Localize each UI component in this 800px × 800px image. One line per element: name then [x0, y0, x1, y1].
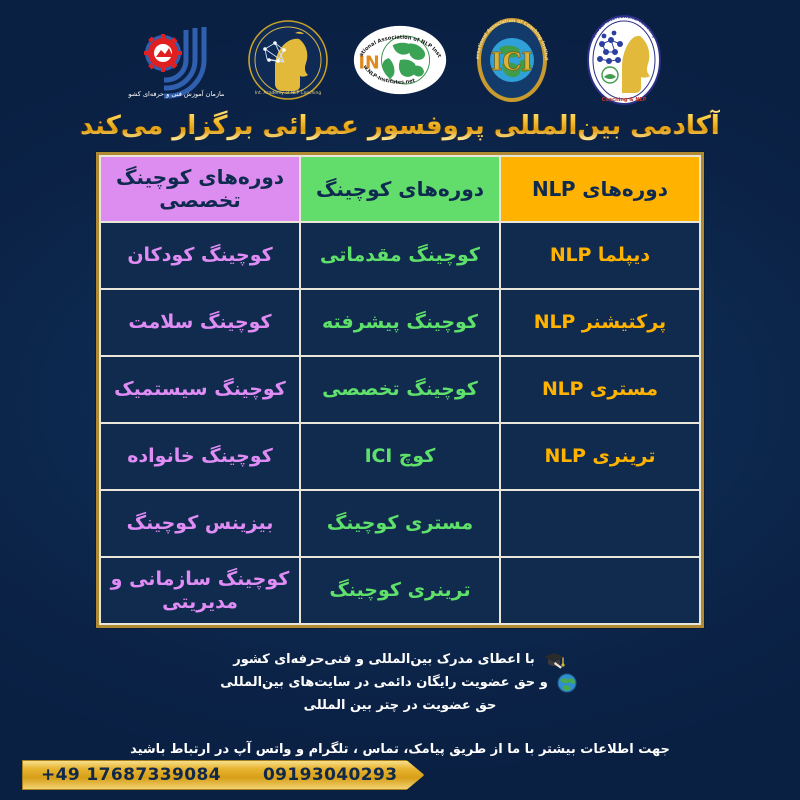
courses-table-frame: دوره‌های NLP دوره‌های کوچینگ دوره‌های کو… [96, 152, 704, 628]
graduation-cap-icon [541, 649, 567, 671]
cell-specialized: کوچینگ سلامت [100, 289, 300, 356]
ici-logo: ICI International Association of Coachin… [464, 15, 560, 105]
cell-coaching: مستری کوچینگ [300, 490, 500, 557]
nlp-academy-logo-caption: Int. Academy of NLP Coaching [255, 90, 321, 96]
column-header-nlp: دوره‌های NLP [500, 156, 700, 222]
footer-note-row-3: حق عضویت در چتر بین المللی [40, 694, 760, 717]
ici-logo-abbr: ICI [491, 47, 533, 76]
column-header-specialized: دوره‌های کوچینگ تخصصی [100, 156, 300, 222]
ianlp-logo: IN International Association of NLP Inst… [352, 15, 448, 105]
cell-coaching: کوچینگ تخصصی [300, 356, 500, 423]
cell-nlp: مستری NLP [500, 356, 700, 423]
cell-specialized: کوچینگ خانواده [100, 423, 300, 490]
footer-notes: با اعطای مدرک بین‌المللی و فنی‌حرفه‌ای ک… [0, 648, 800, 717]
contact-instruction-line: جهت اطلاعات بیشتر با ما از طریق پیامک، ت… [0, 738, 800, 757]
table-row: پرکتیشنر NLP کوچینگ پیشرفته کوچینگ سلامت [100, 289, 700, 356]
globe-icon [554, 672, 580, 694]
poster-root: سازمان آموزش فنی و حرفه‌ای کشور Int [0, 0, 800, 800]
poster-title: آکادمی بین‌المللی پروفسور عمرائی برگزار … [80, 106, 720, 146]
phone-number-local[interactable]: 09193040293 [263, 765, 398, 785]
footer-note-3: حق عضویت در چتر بین المللی [304, 694, 497, 717]
poster-title-wrap: آکادمی بین‌المللی پروفسور عمرائی برگزار … [0, 106, 800, 148]
cell-coaching: کوچ ICI [300, 423, 500, 490]
logo-strip: سازمان آموزش فنی و حرفه‌ای کشور Int [0, 14, 800, 106]
cell-specialized: بیزینس کوچینگ [100, 490, 300, 557]
tvto-logo: سازمان آموزش فنی و حرفه‌ای کشور [128, 15, 224, 105]
courses-table: دوره‌های NLP دوره‌های کوچینگ دوره‌های کو… [99, 155, 701, 625]
omraei-academy-logo-tagline: Coaching & NLP [602, 97, 647, 103]
table-row: دیپلما NLP کوچینگ مقدماتی کوچینگ کودکان [100, 222, 700, 289]
column-header-coaching: دوره‌های کوچینگ [300, 156, 500, 222]
footer-note-1: با اعطای مدرک بین‌المللی و فنی‌حرفه‌ای ک… [233, 648, 534, 671]
cell-coaching: کوچینگ مقدماتی [300, 222, 500, 289]
table-row: مستری NLP کوچینگ تخصصی کوچینگ سیستمیک [100, 356, 700, 423]
cell-specialized: کوچینگ سیستمیک [100, 356, 300, 423]
cell-specialized: کوچینگ کودکان [100, 222, 300, 289]
cell-nlp: پرکتیشنر NLP [500, 289, 700, 356]
contact-instruction-text: جهت اطلاعات بیشتر با ما از طریق پیامک، ت… [130, 742, 670, 757]
cell-nlp: دیپلما NLP [500, 222, 700, 289]
table-row: ترینری کوچینگ کوچینگ سازمانی و مدیریتی [100, 557, 700, 624]
table-row: مستری کوچینگ بیزینس کوچینگ [100, 490, 700, 557]
cell-specialized: کوچینگ سازمانی و مدیریتی [100, 557, 300, 624]
footer-note-2: و حق عضویت رایگان دائمی در سایت‌های بین‌… [220, 671, 548, 694]
phone-number-international[interactable]: +49 17687339084 [41, 765, 221, 785]
cell-nlp-empty [500, 490, 700, 557]
table-row: ترینری NLP کوچ ICI کوچینگ خانواده [100, 423, 700, 490]
cell-nlp: ترینری NLP [500, 423, 700, 490]
nlp-academy-logo: Int. Academy of NLP Coaching [240, 15, 336, 105]
footer-note-row-2: و حق عضویت رایگان دائمی در سایت‌های بین‌… [40, 671, 760, 694]
cell-coaching: ترینری کوچینگ [300, 557, 500, 624]
table-header-row: دوره‌های NLP دوره‌های کوچینگ دوره‌های کو… [100, 156, 700, 222]
cell-coaching: کوچینگ پیشرفته [300, 289, 500, 356]
phone-banner[interactable]: +49 17687339084 09193040293 [22, 760, 424, 790]
cell-nlp-empty [500, 557, 700, 624]
omraei-academy-logo: Omraei International Academy Coaching & … [576, 15, 672, 105]
footer-note-row-1: با اعطای مدرک بین‌المللی و فنی‌حرفه‌ای ک… [40, 648, 760, 671]
tvto-logo-caption: سازمان آموزش فنی و حرفه‌ای کشور [128, 89, 224, 98]
